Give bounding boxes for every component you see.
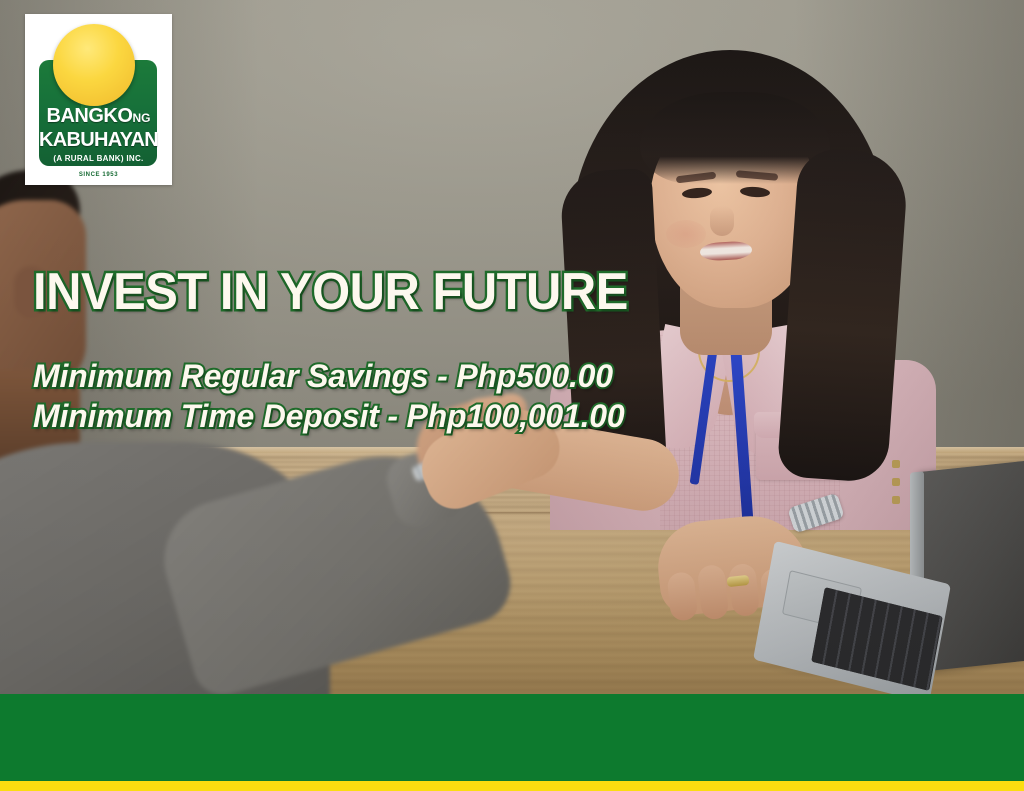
logo-line-bangko: BANGKONG xyxy=(25,106,172,129)
logo-wordmark: BANGKONG KABUHAYAN (A RURAL BANK) INC. S… xyxy=(25,106,172,178)
headline: INVEST IN YOUR FUTURE xyxy=(33,266,628,318)
bank-logo-card: BANGKONG KABUHAYAN (A RURAL BANK) INC. S… xyxy=(25,14,172,185)
officer-nose xyxy=(710,206,734,236)
officer-hair-right xyxy=(777,147,910,484)
subline-regular-savings: Minimum Regular Savings - Php500.00 xyxy=(33,356,625,396)
logo-line-kabuhayan: KABUHAYAN xyxy=(25,129,172,151)
subline-time-deposit: Minimum Time Deposit - Php100,001.00 xyxy=(33,396,625,436)
laptop xyxy=(772,466,1024,694)
green-footer-bar xyxy=(0,694,1024,781)
yellow-accent-bar xyxy=(0,781,1024,791)
subline-group: Minimum Regular Savings - Php500.00 Mini… xyxy=(33,356,625,436)
officer-cheek xyxy=(666,220,706,248)
logo-line-rural-bank: (A RURAL BANK) INC. xyxy=(25,154,172,163)
logo-bangko-text: BANGKO xyxy=(47,105,133,127)
logo-line-since: SINCE 1953 xyxy=(25,172,172,178)
promo-poster: BANGKONG KABUHAYAN (A RURAL BANK) INC. S… xyxy=(0,0,1024,791)
sun-icon xyxy=(53,24,135,106)
logo-ng-text: NG xyxy=(132,111,150,125)
